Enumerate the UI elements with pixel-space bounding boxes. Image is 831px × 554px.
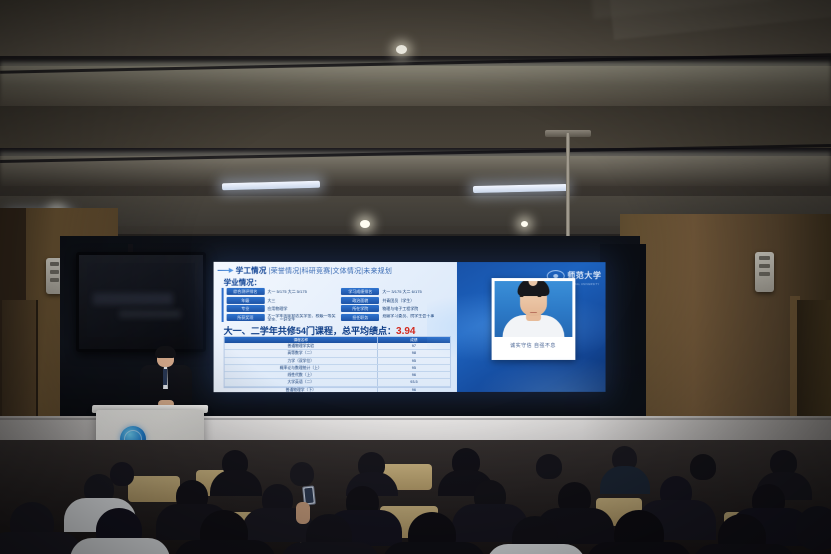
projection-screen: 学工情况 |荣誉情况|科研竞赛|文体情况|未来规划 学业情况： 综合测评排名 大… [214,262,606,392]
info-label: 学习成绩排名 [341,288,379,295]
slide-content-panel: 学工情况 |荣誉情况|科研竞赛|文体情况|未来规划 学业情况： 综合测评排名 大… [214,262,457,392]
slide-section-nav: 学工情况 |荣誉情况|科研竞赛|文体情况|未来规划 [218,265,455,276]
ceiling [0,0,831,250]
info-column-left: 综合测评排名 大一 5/175 大二 5/175 年级 大三 专业 应用物理学 [226,288,338,325]
photo-caption: 诚实守信 自强不息 [494,337,572,354]
table-row: 普通物理学（下） 96 [225,387,450,392]
info-label: 年级 [226,297,264,304]
audience-shoulders [692,544,796,554]
student-id-photo-card: 诚实守信 自强不息 [491,278,575,360]
table-row: 普通物理学实验 97 [225,343,450,350]
raised-hand [296,502,310,524]
table-row: 力学（双学位） 95 [225,358,450,365]
phone-screen [304,488,314,504]
audience-shoulders [0,532,82,554]
nav-active-section[interactable]: 学工情况 [236,265,267,276]
ceiling-downlight [521,221,528,227]
audience-shoulders [382,542,486,554]
tv-reflection [93,293,173,305]
audience-shoulders [174,540,276,554]
cell-course: 大学英语（二） [225,380,378,386]
info-label: 综合测评排名 [226,288,264,295]
info-label: 担任职务 [341,314,379,321]
wall-mounted-display [76,252,206,352]
ceiling-downlight [396,45,407,54]
presentation-slide: 学工情况 |荣誉情况|科研竞赛|文体情况|未来规划 学业情况： 综合测评排名 大… [214,262,606,392]
info-value: 大一 3/175 大二 6/175 [382,288,421,295]
wall-speaker-right [755,252,774,292]
audience-shoulders [486,544,586,554]
audience-head [690,454,716,480]
info-value: 大三 [267,297,275,304]
info-columns: 综合测评排名 大一 5/175 大二 5/175 年级 大三 专业 应用物理学 [226,288,453,322]
audience-area [0,440,831,554]
cell-course: 高等数学（二） [225,350,378,356]
nav-other-sections[interactable]: |荣誉情况|科研竞赛|文体情况|未来规划 [269,265,393,275]
gpa-summary-text: 大一、二学年共修54门课程，总平均绩点： [224,326,396,336]
info-value: 共青团员（学生） [382,297,414,304]
ceiling-downlight [360,220,370,228]
tv-reflection [119,310,181,318]
stage-back-wall-right [600,244,646,416]
slide-subsection-title: 学业情况： [224,277,262,288]
ceiling-band-upper [0,0,831,58]
info-label: 专业 [226,305,264,312]
arrow-right-icon [218,268,234,273]
portrait-hair [517,281,549,296]
info-row: 年级 大三 [226,297,338,304]
audience-shoulders [70,538,170,554]
info-label: 政治面貌 [341,297,379,304]
presenter-tie [163,369,167,385]
cell-course: 线性代数（上） [225,372,378,378]
student-info-grid: 综合测评排名 大一 5/175 大二 5/175 年级 大三 专业 应用物理学 [222,288,453,322]
info-label: 所获奖项 [226,314,264,321]
seat-back [128,476,180,502]
slide-brand-panel: 师范大学 NORMAL UNIVERSITY [457,262,606,392]
cell-course: 普通物理学（下） [225,387,378,392]
audience-head [796,506,831,550]
cell-course: 概率论与数理统计（上） [225,365,378,371]
audience-head [536,454,562,479]
cell-course: 普通物理学实验 [225,343,378,349]
info-value: 大一 5/175 大二 5/175 [267,288,306,295]
table-row: 概率论与数理统计（上） 95 [225,365,450,372]
cell-score: 96 [378,372,450,378]
info-value: 大一学年国家励志奖学金、校级一等奖学金、三好学生 [267,314,338,321]
info-label: 所在学院 [341,305,379,312]
info-row: 综合测评排名 大一 5/175 大二 5/175 [226,288,338,295]
lecture-hall-photo: 学工情况 |荣誉情况|科研竞赛|文体情况|未来规划 学业情况： 综合测评排名 大… [0,0,831,554]
course-grade-table: 课程名称 成绩 普通物理学实验 97 高等数学（二） 98 力学（双学位） 95 [224,336,451,388]
cell-score: 93.5 [378,379,450,385]
cell-course: 力学（双学位） [225,358,378,364]
info-value: 物理与电子工程学院 [382,305,418,312]
presenter-hair [155,346,176,358]
table-row: 高等数学（二） 98 [225,350,450,357]
audience-shoulders [586,542,692,554]
info-accent-bar [222,288,224,322]
cell-score: 96 [378,387,450,392]
audience-shoulders [280,542,380,554]
audience-head [290,462,314,486]
table-row: 线性代数（上） 96 [225,372,450,379]
info-row: 专业 应用物理学 [226,305,338,312]
audience-head [110,462,134,486]
info-value: 应用物理学 [267,305,287,312]
student-portrait [494,281,572,337]
